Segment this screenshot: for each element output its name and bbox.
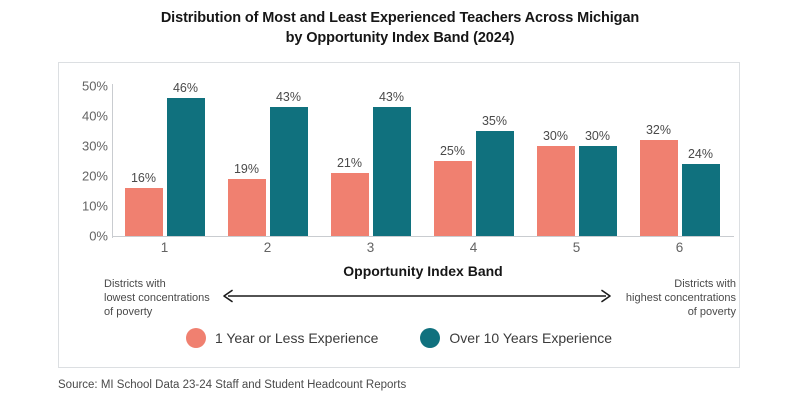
bar-series-a-band-1[interactable]: 16% [125,188,163,236]
bar-label-series-a-band-1: 16% [131,171,156,185]
annotation-left-line-3: of poverty [104,305,216,319]
bar-group-3: 21% 43% [319,86,422,236]
bar-series-a-band-6[interactable]: 32% [640,140,678,236]
x-axis-tick-labels: 1 2 3 4 5 6 [113,240,733,262]
annotation-left-line-1: Districts with [104,277,216,291]
annotation-right-line-1: Districts with [620,277,736,291]
y-tick-30: 30% [64,139,108,154]
bar-group-5: 30% 30% [525,86,628,236]
bar-label-series-b-band-3: 43% [379,90,404,104]
x-tick-band-1: 1 [113,240,216,255]
bar-group-4: 25% 35% [422,86,525,236]
bar-label-series-a-band-3: 21% [337,156,362,170]
y-tick-0: 0% [64,229,108,244]
bar-series-b-band-4[interactable]: 35% [476,131,514,236]
bar-label-series-a-band-4: 25% [440,144,465,158]
y-tick-10: 10% [64,199,108,214]
bar-series-a-band-2[interactable]: 19% [228,179,266,236]
bar-series-a-band-5[interactable]: 30% [537,146,575,236]
bar-series-b-band-6[interactable]: 24% [682,164,720,236]
y-tick-50: 50% [64,79,108,94]
annotation-right-line-2: highest concentrations [620,291,736,305]
legend-label-series-a: 1 Year or Less Experience [215,330,378,346]
bar-series-b-band-2[interactable]: 43% [270,107,308,236]
legend-swatch-circle-icon-series-b [420,328,440,348]
bar-label-series-b-band-6: 24% [688,147,713,161]
plot-area: 16% 46% 19% 43% 21% 43% [113,86,733,236]
annotation-highest-poverty: Districts with highest concentrations of… [620,277,736,319]
y-tick-20: 20% [64,169,108,184]
x-tick-band-5: 5 [525,240,628,255]
x-tick-band-4: 4 [422,240,525,255]
y-tick-40: 40% [64,109,108,124]
chart-title: Distribution of Most and Least Experienc… [0,8,800,48]
bar-series-b-band-5[interactable]: 30% [579,146,617,236]
chart-title-line-1: Distribution of Most and Least Experienc… [0,8,800,28]
y-axis-tick-labels: 50% 40% 30% 20% 10% 0% [56,86,108,236]
x-tick-band-3: 3 [319,240,422,255]
bar-series-b-band-3[interactable]: 43% [373,107,411,236]
x-tick-band-2: 2 [216,240,319,255]
x-tick-band-6: 6 [628,240,731,255]
chart-legend: 1 Year or Less Experience Over 10 Years … [58,328,740,348]
chart-title-line-2: by Opportunity Index Band (2024) [0,28,800,48]
bar-series-b-band-1[interactable]: 46% [167,98,205,236]
legend-swatch-circle-icon-series-a [186,328,206,348]
annotation-left-line-2: lowest concentrations [104,291,216,305]
bar-label-series-a-band-6: 32% [646,123,671,137]
bar-series-a-band-3[interactable]: 21% [331,173,369,236]
double-headed-arrow-icon [218,289,616,303]
bar-label-series-b-band-4: 35% [482,114,507,128]
bar-label-series-b-band-5: 30% [585,129,610,143]
annotation-lowest-poverty: Districts with lowest concentrations of … [104,277,216,319]
bar-label-series-b-band-1: 46% [173,81,198,95]
bar-group-6: 32% 24% [628,86,731,236]
x-axis-line [112,236,734,237]
bar-label-series-a-band-2: 19% [234,162,259,176]
legend-label-series-b: Over 10 Years Experience [449,330,612,346]
legend-item-series-b[interactable]: Over 10 Years Experience [420,328,612,348]
bar-group-2: 19% 43% [216,86,319,236]
legend-item-series-a[interactable]: 1 Year or Less Experience [186,328,378,348]
annotation-right-line-3: of poverty [620,305,736,319]
bar-series-a-band-4[interactable]: 25% [434,161,472,236]
source-note: Source: MI School Data 23-24 Staff and S… [58,379,406,391]
bar-label-series-b-band-2: 43% [276,90,301,104]
bar-label-series-a-band-5: 30% [543,129,568,143]
bar-group-1: 16% 46% [113,86,216,236]
